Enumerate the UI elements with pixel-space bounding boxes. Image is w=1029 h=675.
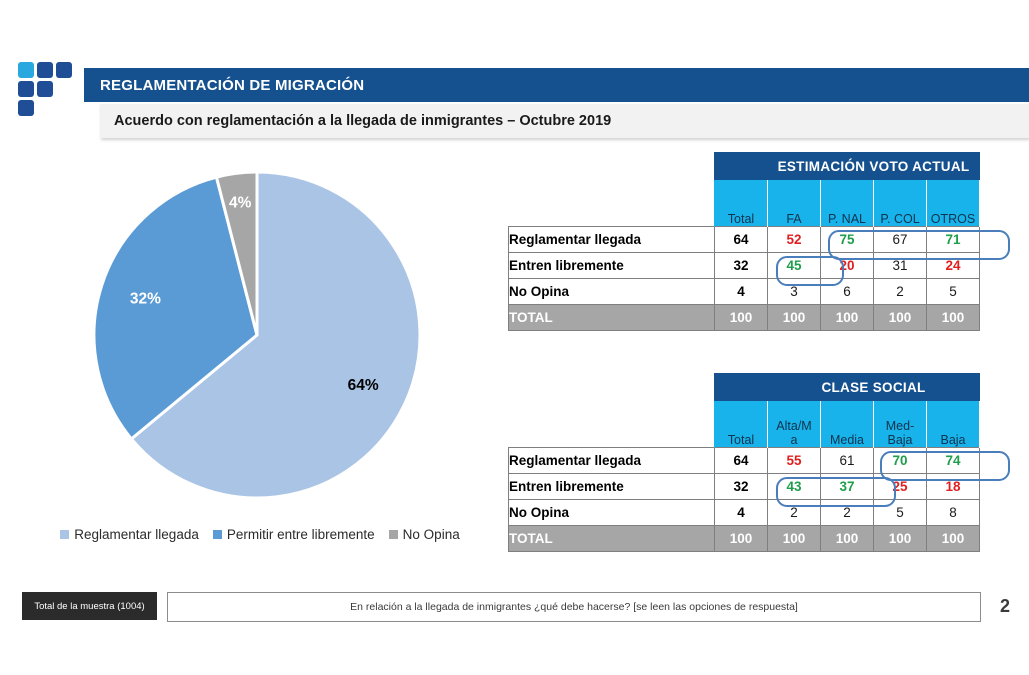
cell: 5 <box>927 279 980 305</box>
cell: 100 <box>715 526 768 552</box>
logo-tile <box>56 62 72 78</box>
cell: 25 <box>874 474 927 500</box>
cell: 100 <box>821 305 874 331</box>
table-row: No Opina 4 3 6 2 5 <box>509 279 980 305</box>
cell: 4 <box>715 500 768 526</box>
cell: 8 <box>927 500 980 526</box>
legend-label: No Opina <box>403 527 460 542</box>
legend-swatch-icon <box>60 530 69 539</box>
table-estimacion-voto-actual: ESTIMACIÓN VOTO ACTUAL Total FA P. NAL P… <box>508 152 980 331</box>
table-group-header-row: ESTIMACIÓN VOTO ACTUAL <box>509 153 980 180</box>
logo-tile <box>18 100 34 116</box>
col-head-line2: a <box>768 433 820 447</box>
legend-label: Permitir entre libremente <box>227 527 375 542</box>
page-title-bar: REGLAMENTACIÓN DE MIGRACIÓN <box>84 68 1029 102</box>
column-header-baja: Baja <box>927 401 980 448</box>
row-label-total: TOTAL <box>509 305 715 331</box>
cell: 37 <box>821 474 874 500</box>
pie-slice-label: 32% <box>130 291 161 308</box>
table-column-header-row: Total Alta/M a Media Med- Baja Baja <box>509 401 980 448</box>
row-label: Reglamentar llegada <box>509 448 715 474</box>
cell: 2 <box>768 500 821 526</box>
cell: 64 <box>715 448 768 474</box>
page-subtitle-bar: Acuerdo con reglamentación a la llegada … <box>100 104 1029 138</box>
column-header-altamedia: Alta/M a <box>768 401 821 448</box>
row-label: No Opina <box>509 279 715 305</box>
table-column-header-row: Total FA P. NAL P. COL OTROS <box>509 180 980 227</box>
cell: 4 <box>715 279 768 305</box>
column-header-medbaja: Med- Baja <box>874 401 927 448</box>
legend-swatch-icon <box>389 530 398 539</box>
company-logo <box>18 62 76 118</box>
cell: 70 <box>874 448 927 474</box>
logo-tile <box>18 81 34 97</box>
cell: 2 <box>821 500 874 526</box>
spacer <box>509 153 715 180</box>
column-header-media: Media <box>821 401 874 448</box>
cell: 75 <box>821 227 874 253</box>
table-row: Reglamentar llegada 64 55 61 70 74 <box>509 448 980 474</box>
row-label: Entren libremente <box>509 253 715 279</box>
cell: 55 <box>768 448 821 474</box>
table-row: Entren libremente 32 43 37 25 18 <box>509 474 980 500</box>
cell: 100 <box>874 305 927 331</box>
cell: 100 <box>768 305 821 331</box>
page-title: REGLAMENTACIÓN DE MIGRACIÓN <box>84 77 364 94</box>
cell: 64 <box>715 227 768 253</box>
col-head-line2: Baja <box>874 433 926 447</box>
cell: 31 <box>874 253 927 279</box>
cell: 100 <box>821 526 874 552</box>
pie-slice-label: 64% <box>348 377 379 394</box>
cell: 100 <box>927 305 980 331</box>
col-head-line1: Med- <box>874 419 926 433</box>
column-header-pcol: P. COL <box>874 180 927 227</box>
sample-size-tag: Total de la muestra (1004) <box>22 592 157 620</box>
col-head-line1: Media <box>821 433 873 447</box>
question-text: En relación a la llegada de inmigrantes … <box>350 601 798 613</box>
cell: 61 <box>821 448 874 474</box>
cell: 74 <box>927 448 980 474</box>
table-group-header-row: CLASE SOCIAL <box>509 374 980 401</box>
cell: 100 <box>874 526 927 552</box>
row-label-total: TOTAL <box>509 526 715 552</box>
group-header-label: ESTIMACIÓN VOTO ACTUAL <box>768 153 980 180</box>
column-header-total: Total <box>715 180 768 227</box>
column-header-pnal: P. NAL <box>821 180 874 227</box>
logo-tile <box>37 81 53 97</box>
row-label: Reglamentar llegada <box>509 227 715 253</box>
column-header-fa: FA <box>768 180 821 227</box>
cell: 100 <box>768 526 821 552</box>
logo-tile <box>37 62 53 78</box>
legend-item-0: Reglamentar llegada <box>60 527 199 542</box>
spacer <box>509 180 715 227</box>
legend-label: Reglamentar llegada <box>74 527 199 542</box>
row-label: No Opina <box>509 500 715 526</box>
page-subtitle: Acuerdo con reglamentación a la llegada … <box>100 113 611 129</box>
page-number: 2 <box>990 592 1020 620</box>
row-label: Entren libremente <box>509 474 715 500</box>
cell: 43 <box>768 474 821 500</box>
cell: 67 <box>874 227 927 253</box>
table-total-row: TOTAL 100 100 100 100 100 <box>509 305 980 331</box>
spacer <box>509 401 715 448</box>
group-header-blank <box>715 153 768 180</box>
cell: 45 <box>768 253 821 279</box>
cell: 32 <box>715 474 768 500</box>
col-head-line2: Total <box>715 433 767 447</box>
cell: 52 <box>768 227 821 253</box>
cell: 3 <box>768 279 821 305</box>
pie-legend: Reglamentar llegada Permitir entre libre… <box>0 527 520 542</box>
col-head-line2: Baja <box>927 433 979 447</box>
cell: 100 <box>927 526 980 552</box>
cell: 6 <box>821 279 874 305</box>
cell: 18 <box>927 474 980 500</box>
cell: 5 <box>874 500 927 526</box>
cell: 20 <box>821 253 874 279</box>
table-total-row: TOTAL 100 100 100 100 100 <box>509 526 980 552</box>
pie-chart-svg: 64%32%4% <box>60 150 460 520</box>
table-row: No Opina 4 2 2 5 8 <box>509 500 980 526</box>
legend-swatch-icon <box>213 530 222 539</box>
question-box: En relación a la llegada de inmigrantes … <box>167 592 981 622</box>
pie-chart: 64%32%4% <box>60 150 460 520</box>
table-row: Entren libremente 32 45 20 31 24 <box>509 253 980 279</box>
pie-slices <box>94 172 420 498</box>
table-clase-social: CLASE SOCIAL Total Alta/M a Media Med- B… <box>508 373 980 552</box>
column-header-otros: OTROS <box>927 180 980 227</box>
column-header-total: Total <box>715 401 768 448</box>
legend-item-2: No Opina <box>389 527 460 542</box>
table-row: Reglamentar llegada 64 52 75 67 71 <box>509 227 980 253</box>
group-header-label: CLASE SOCIAL <box>768 374 980 401</box>
cell: 24 <box>927 253 980 279</box>
col-head-line1: Alta/M <box>768 419 820 433</box>
spacer <box>509 374 715 401</box>
cell: 32 <box>715 253 768 279</box>
group-header-blank <box>715 374 768 401</box>
sample-size-label: Total de la muestra (1004) <box>34 601 144 612</box>
legend-item-1: Permitir entre libremente <box>213 527 375 542</box>
cell: 100 <box>715 305 768 331</box>
logo-tile <box>18 62 34 78</box>
cell: 2 <box>874 279 927 305</box>
cell: 71 <box>927 227 980 253</box>
pie-slice-label: 4% <box>229 194 252 211</box>
